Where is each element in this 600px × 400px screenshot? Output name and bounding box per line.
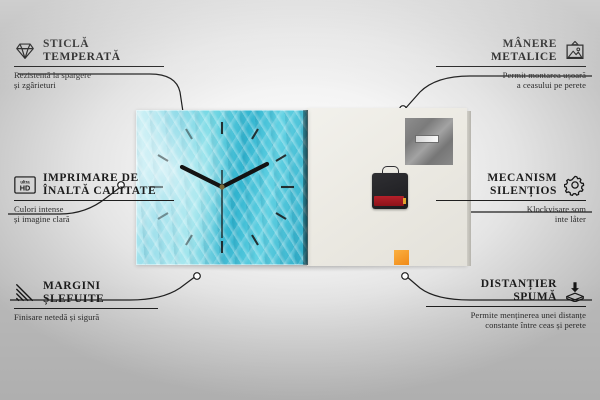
feature-desc-line1: Rezistentă la spargere [14,70,164,80]
feature-title-line2: TEMPERATĂ [43,51,121,64]
callout-rule [14,200,174,201]
diamond-icon [14,40,36,62]
feature-title-line2: ÎNALTĂ CALITATE [43,185,156,198]
svg-text:HD: HD [20,183,30,192]
picture-frame-icon [564,40,586,62]
feature-title-line2: METALICE [491,51,557,64]
leader-dot [194,273,201,280]
foam-spacer [394,250,409,265]
feature-title-line2: ȘLEFUITE [43,293,104,306]
feature-desc-line2: și imagine clară [14,214,174,224]
hanger-slot [415,135,439,143]
feature-title-line1: MARGINI [43,280,104,293]
feature-desc-line1: Culori intense [14,204,174,214]
feature-desc-line2: și zgârieturi [14,80,164,90]
feature-desc-line1: Klockvisare som [436,204,586,214]
clock-hour-hand [182,167,222,187]
callout-high-quality-print[interactable]: ultra HD IMPRIMARE DE ÎNALTĂ CALITATE Cu… [14,172,174,225]
feature-desc-line1: Finisare netedă și sigură [14,312,158,322]
clock-minute-hand [222,164,267,187]
feature-title-line1: STICLĂ [43,38,121,51]
feature-desc-line1: Permite menținerea unei distanțe [426,310,586,320]
leader-dot [402,273,409,280]
feature-desc-line2: a ceasului pe perete [436,80,586,90]
callout-silent-mechanism[interactable]: MECANISM SILENȚIOS Klockvisare som inte … [436,172,586,225]
callout-metal-handles[interactable]: MÂNERE METALICE Permit montarea ușoară a… [436,38,586,91]
feature-desc-line1: Permit montarea ușoară [436,70,586,80]
feature-title-line1: IMPRIMARE DE [43,172,156,185]
callout-polished-edges[interactable]: MARGINI ȘLEFUITE Finisare netedă și sigu… [14,280,158,322]
callout-tempered-glass[interactable]: STICLĂ TEMPERATĂ Rezistentă la spargere … [14,38,164,91]
clock-center-cap [219,184,224,189]
callout-rule [14,66,164,67]
feature-title-line2: SPUMĂ [481,291,557,304]
feature-desc-line2: constante între ceas și perete [426,320,586,330]
feature-title-line1: DISTANȚIER [481,278,557,291]
product-shadow [140,265,470,272]
callout-foam-spacer[interactable]: DISTANȚIER SPUMĂ Permite menținerea unei… [426,278,586,331]
callout-rule [436,200,586,201]
feature-title-line1: MÂNERE [491,38,557,51]
callout-rule [14,308,158,309]
press-down-icon [564,280,586,302]
infographic-stage: STICLĂ TEMPERATĂ Rezistentă la spargere … [0,0,600,400]
ultra-hd-icon: ultra HD [14,174,36,196]
callout-rule [436,66,586,67]
hatch-lines-icon [14,282,36,304]
feature-title-line2: SILENȚIOS [487,185,557,198]
gear-icon [564,174,586,196]
callout-rule [426,306,586,307]
feature-title-line1: MECANISM [487,172,557,185]
battery [374,196,404,206]
feature-desc-line2: inte låter [436,214,586,224]
